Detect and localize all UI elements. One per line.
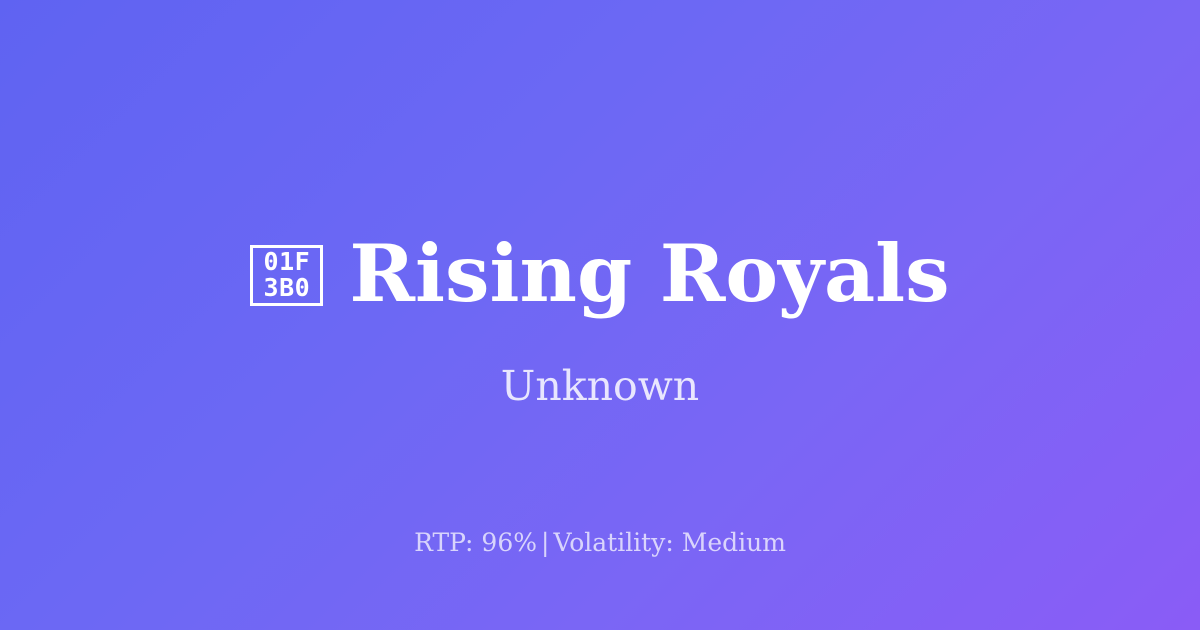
title-row: 01F 3B0 Rising Royals [0,222,1200,326]
rtp-stat: RTP: 96% [414,528,537,557]
volatility-stat: Volatility: Medium [553,528,785,557]
stats-separator: | [537,528,553,557]
subtitle-provider: Unknown [0,360,1200,412]
tofu-codepoint-top: 01F [264,249,311,275]
slot-machine-icon: 01F 3B0 [250,245,323,306]
page-title: Rising Royals [349,226,949,322]
game-stats-line: RTP: 96%|Volatility: Medium [0,527,1200,559]
og-card: 01F 3B0 Rising Royals Unknown RTP: 96%|V… [0,0,1200,630]
tofu-codepoint-bottom: 3B0 [264,275,311,301]
